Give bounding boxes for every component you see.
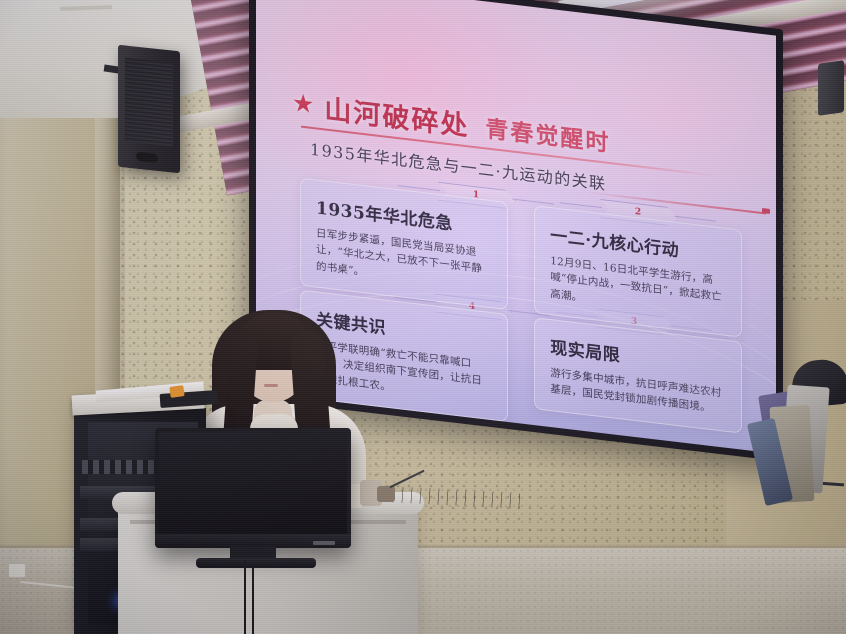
monitor-screen[interactable] [159, 432, 347, 534]
power-cable [252, 566, 254, 634]
wall-outlet [8, 563, 26, 578]
mouth [264, 384, 278, 387]
marker-tail-right [674, 216, 716, 222]
subtitle-accent-dot [762, 208, 770, 214]
power-cable [244, 560, 246, 634]
podium-item [377, 486, 395, 502]
monitor-logo [313, 541, 335, 545]
patch-panel [82, 460, 160, 474]
computer-monitor[interactable] [155, 428, 351, 548]
slide-card: 一二·九核心行动 12月9日、16日北平学生游行，高喊“停止内战，一致抗日”，掀… [534, 205, 742, 337]
speaker-grille [125, 57, 173, 146]
slide-title-primary: 山河破碎处 [324, 87, 469, 143]
monitor-base [196, 558, 316, 568]
screenshot-scene: ★ 山河破碎处 青春觉醒时 1935年华北危急与一二·九运动的关联 1 [0, 0, 846, 634]
wall-speaker-small [818, 60, 844, 116]
marker-number: 2 [635, 207, 641, 218]
slide-card-grid: 1 2 4 [300, 178, 742, 374]
marker-tail-left [560, 202, 602, 208]
orange-clip [169, 385, 184, 398]
slide-card: 现实局限 游行多集中城市，抗日呼声难达农村基层，国民党封锁加剧传播困境。 [534, 317, 742, 433]
speaker-port [136, 152, 158, 163]
marker-tail-right [512, 199, 554, 205]
star-icon: ★ [292, 91, 314, 119]
wall-speaker-main [118, 45, 180, 174]
